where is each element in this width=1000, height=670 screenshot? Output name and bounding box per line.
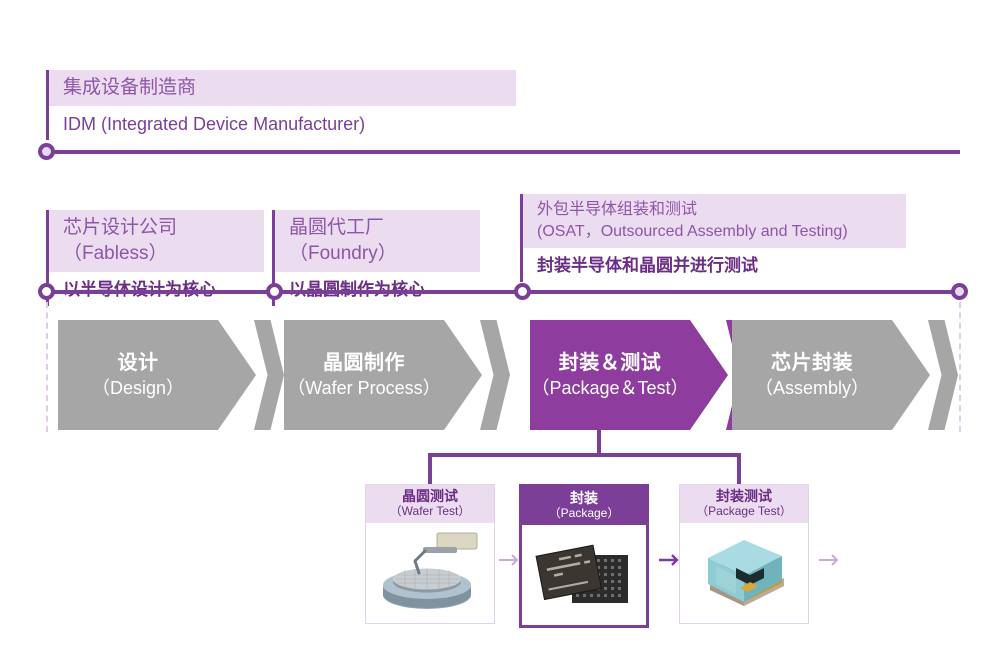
- substep-package-header: 封装 （Package）: [522, 487, 646, 525]
- idm-timeline-start-dot: [38, 143, 55, 160]
- timeline-node-end: [951, 283, 968, 300]
- substep-wafer-test-title-en: （Wafer Test）: [390, 504, 471, 519]
- stage-wafer-process-arrow-icon: [480, 320, 510, 430]
- timeline-node-foundry: [266, 283, 283, 300]
- substep-box-package-test[interactable]: 封装测试 （Package Test）: [679, 484, 809, 624]
- stage-chevron-package-test[interactable]: 封装＆测试 （Package＆Test）: [530, 320, 760, 430]
- stage-design-body: 设计 （Design）: [58, 320, 218, 430]
- stage-package-test-title-cn: 封装＆测试: [559, 350, 662, 376]
- stage-wafer-process-tip: [444, 320, 482, 430]
- bracket-horizontal: [428, 453, 741, 457]
- value-chain-diagram: 集成设备制造商 IDM (Integrated Device Manufactu…: [0, 0, 1000, 670]
- substep-package-test-image-area: [680, 523, 808, 623]
- idm-heading: 集成设备制造商: [49, 70, 516, 106]
- stage-assembly-arrow-icon: [928, 320, 958, 430]
- stage-package-test-tip: [690, 320, 728, 430]
- substep-wafer-test-title-cn: 晶圆测试: [402, 489, 458, 504]
- stage-design-arrow-icon: [254, 320, 284, 430]
- substep-box-package[interactable]: 封装 （Package）: [519, 484, 649, 628]
- substep-package-title-cn: 封装: [570, 491, 598, 506]
- fabless-description: 以半导体设计为核心: [49, 272, 264, 306]
- idm-subtitle: IDM (Integrated Device Manufacturer): [49, 106, 516, 140]
- stage-design-title-cn: 设计: [118, 350, 159, 376]
- substep-package-title-en: （Package）: [549, 506, 620, 521]
- substep-package-test-header: 封装测试 （Package Test）: [680, 485, 808, 523]
- stage-wafer-process-title-en: （Wafer Process）: [287, 376, 440, 400]
- boundary-dash-left: [46, 302, 48, 432]
- stage-chevron-wafer-process[interactable]: 晶圆制作 （Wafer Process）: [284, 320, 514, 430]
- osat-label-group: 外包半导体组装和测试 (OSAT，Outsourced Assembly and…: [520, 194, 906, 282]
- timeline-node-osat: [514, 283, 531, 300]
- osat-heading: 外包半导体组装和测试 (OSAT，Outsourced Assembly and…: [523, 194, 906, 248]
- stage-assembly-body: 芯片封装 （Assembly）: [732, 320, 892, 430]
- wafer-prober-illustration: [371, 529, 489, 617]
- timeline-node-fabless: [38, 283, 55, 300]
- stage-wafer-process-body: 晶圆制作 （Wafer Process）: [284, 320, 444, 430]
- substep-wafer-test-header: 晶圆测试 （Wafer Test）: [366, 485, 494, 523]
- test-socket-handler-illustration: [688, 528, 800, 618]
- foundry-description: 以晶圆制作为核心: [275, 272, 480, 306]
- stage-package-test-body: 封装＆测试 （Package＆Test）: [530, 320, 690, 430]
- stage-chevron-design[interactable]: 设计 （Design）: [58, 320, 288, 430]
- substep-wafer-test-image-area: [366, 523, 494, 623]
- substep-box-wafer-test[interactable]: 晶圆测试 （Wafer Test）: [365, 484, 495, 624]
- bracket-drop-left: [428, 453, 432, 487]
- substep-package-test-title-cn: 封装测试: [716, 489, 772, 504]
- stage-design-tip: [218, 320, 256, 430]
- substep-arrow-3: [819, 552, 845, 568]
- bracket-drop-right: [737, 453, 741, 487]
- idm-label-group: 集成设备制造商 IDM (Integrated Device Manufactu…: [46, 70, 516, 140]
- bga-chip-package-illustration: [528, 533, 640, 617]
- stage-design-title-en: （Design）: [92, 376, 184, 400]
- stage-assembly-title-en: （Assembly）: [755, 376, 869, 400]
- stage-assembly-tip: [892, 320, 930, 430]
- stage-chevron-assembly[interactable]: 芯片封装 （Assembly）: [732, 320, 962, 430]
- stage-assembly-title-cn: 芯片封装: [771, 350, 853, 376]
- foundry-heading: 晶圆代工厂（Foundry）: [275, 210, 480, 272]
- fabless-heading: 芯片设计公司（Fabless）: [49, 210, 264, 272]
- substep-package-test-title-en: （Package Test）: [696, 504, 792, 519]
- substep-package-image-area: [522, 525, 646, 625]
- stage-package-test-title-en: （Package＆Test）: [531, 376, 688, 400]
- osat-description: 封装半导体和晶圆并进行测试: [523, 248, 906, 282]
- idm-timeline-line: [54, 150, 960, 154]
- stage-wafer-process-title-cn: 晶圆制作: [323, 350, 405, 376]
- segment-timeline-line: [54, 290, 960, 294]
